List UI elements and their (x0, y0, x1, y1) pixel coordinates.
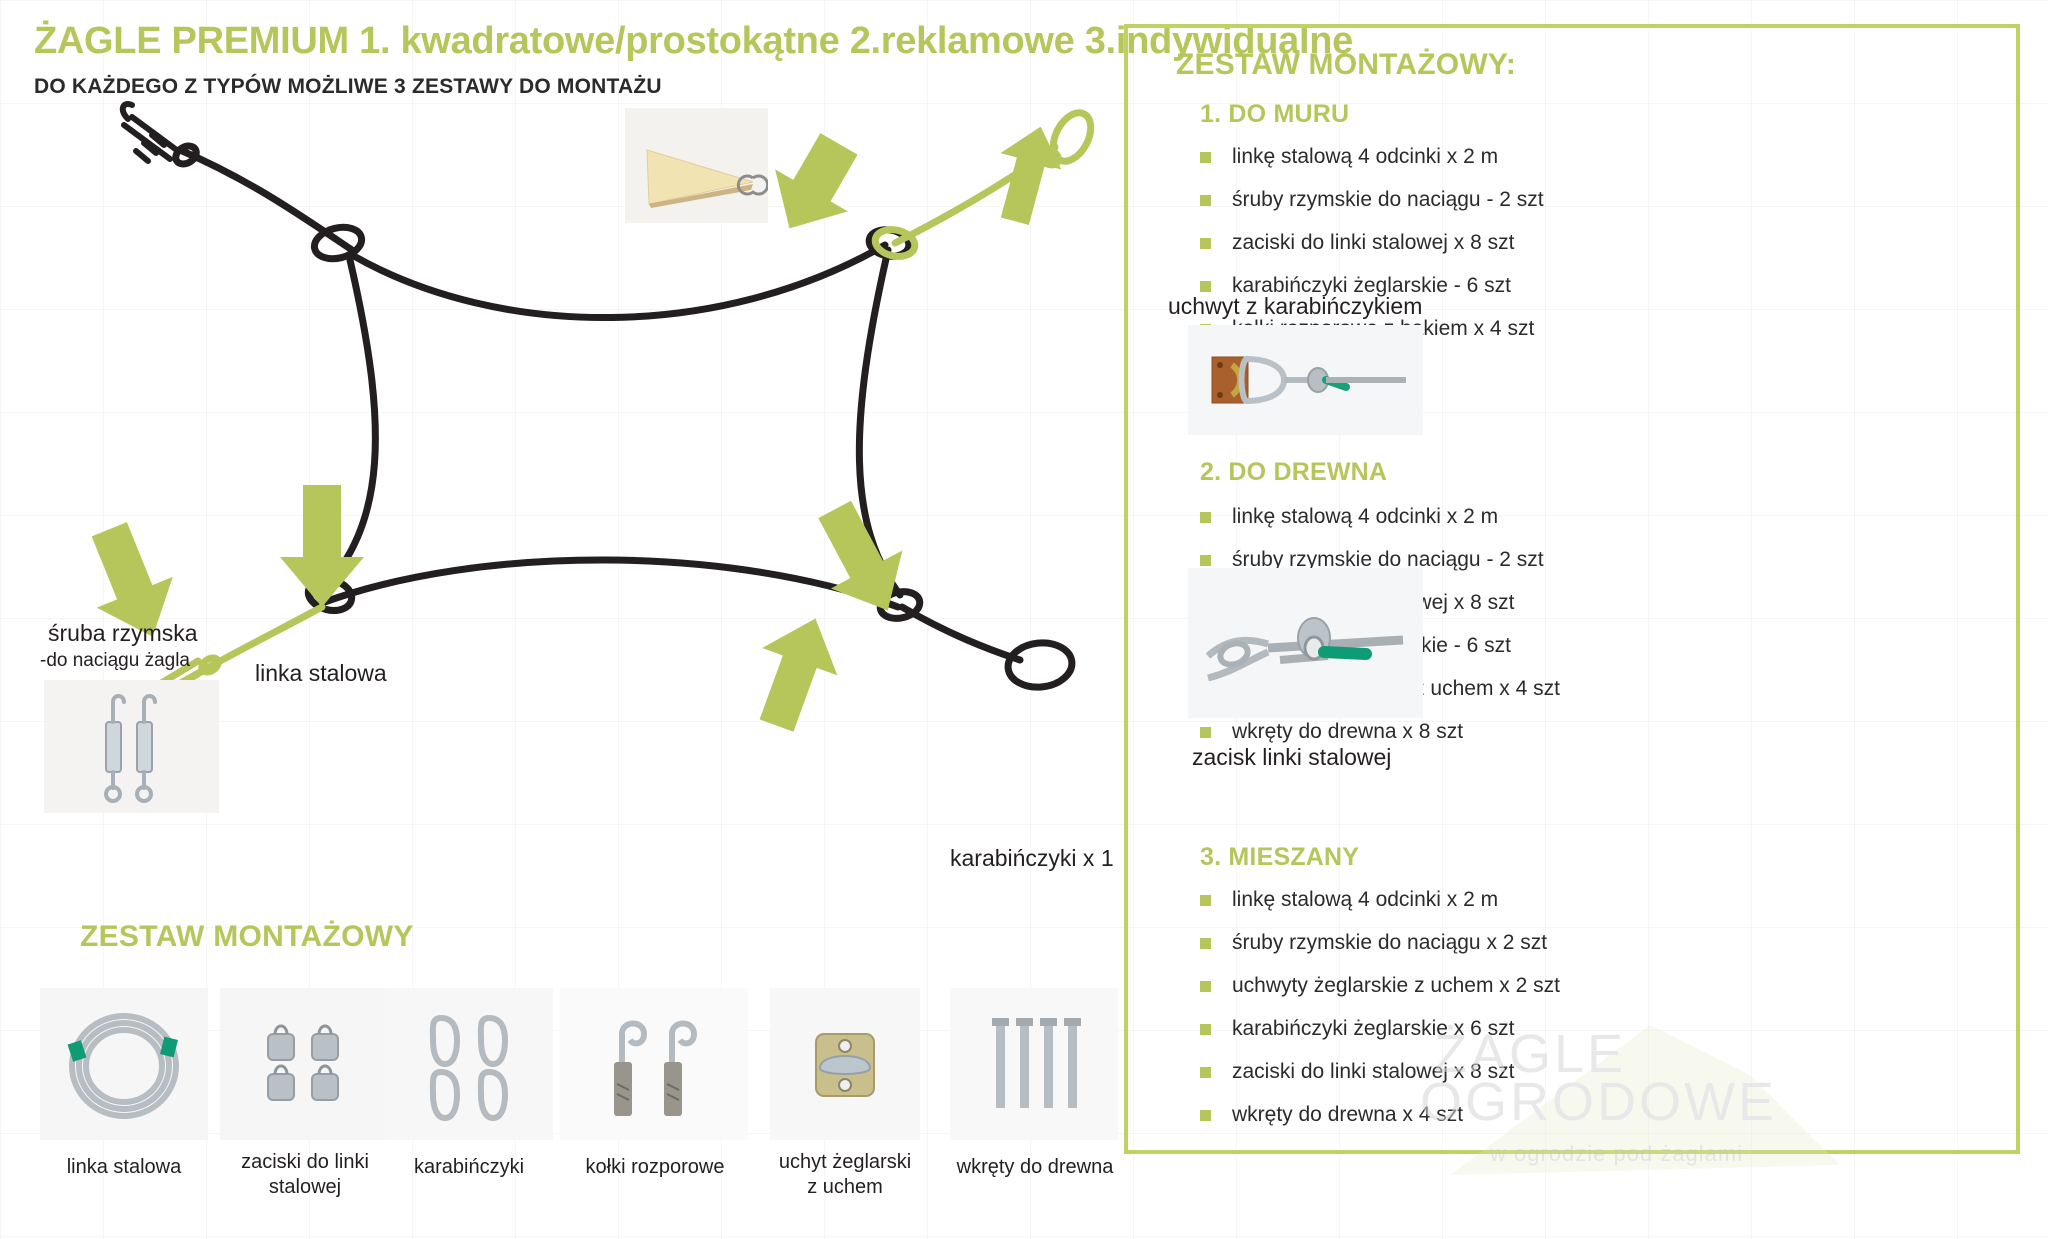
photo-product-linka-stalowa (40, 988, 208, 1140)
caption-wkrety: wkręty do drewna (930, 1155, 1140, 1180)
label-zestaw-montazowy: ZESTAW MONTAŻOWY (80, 920, 414, 954)
caption-uchwyt-text: uchyt żeglarski z uchem (779, 1151, 911, 1198)
caption-kolki: kołki rozporowe (550, 1155, 760, 1180)
kit-list-3: linkę stalową 4 odcinki x 2 m śruby rzym… (1200, 888, 1900, 1147)
caption-zaciski-text: zaciski do linki stalowej (241, 1151, 369, 1198)
list-item: uchwyty żeglarskie z uchem x 2 szt (1200, 974, 1900, 997)
list-item: wkręty do drewna x 8 szt (1200, 720, 1900, 743)
bullet-icon (1200, 895, 1211, 906)
bullet-icon (1200, 727, 1211, 738)
label-uchwyt-z-karabinczykiem: uchwyt z karabińczykiem (1168, 293, 1422, 319)
section-heading-3: 3. MIESZANY (1200, 843, 1359, 872)
photo-product-kolki (560, 988, 748, 1140)
photo-product-wkrety (950, 988, 1118, 1140)
list-item: śruby rzymskie do naciągu - 2 szt (1200, 188, 1900, 211)
panel-title: ZESTAW MONTAŻOWY: (1176, 48, 1516, 82)
photo-zacisk-linki (1188, 568, 1423, 718)
bullet-icon (1200, 938, 1211, 949)
label-sruba-rzymska: śruba rzymska (48, 620, 198, 646)
bullet-icon (1200, 1067, 1211, 1078)
photo-product-karabinczyki (385, 988, 553, 1140)
list-item: zaciski do linki stalowej x 8 szt (1200, 1060, 1900, 1083)
section-heading-1: 1. DO MURU (1200, 100, 1349, 129)
bullet-icon (1200, 1110, 1211, 1121)
photo-product-uchwyt (770, 988, 920, 1140)
bullet-icon (1200, 512, 1211, 523)
caption-zaciski: zaciski do linki stalowej (215, 1150, 395, 1200)
label-zacisk-linki-stalowej: zacisk linki stalowej (1192, 744, 1391, 770)
label-karabinczyki-x1: karabińczyki x 1 (950, 845, 1114, 871)
caption-karabinczyki: karabińczyki (385, 1155, 553, 1180)
label-sruba-rzymska-sub: -do naciągu żagla (40, 650, 190, 672)
bullet-icon (1200, 152, 1211, 163)
bullet-icon (1200, 555, 1211, 566)
bullet-icon (1200, 195, 1211, 206)
photo-product-zaciski (220, 988, 388, 1140)
photo-sruba-rzymska (44, 680, 219, 813)
photo-uchwyt-karabinczyk (1188, 325, 1423, 435)
list-item: linkę stalową 4 odcinki x 2 m (1200, 505, 1900, 528)
photo-sail-corner (625, 108, 768, 223)
label-linka-stalowa: linka stalowa (255, 660, 387, 686)
caption-linka-stalowa: linka stalowa (40, 1155, 208, 1180)
list-item: linkę stalową 4 odcinki x 2 m (1200, 888, 1900, 911)
bullet-icon (1200, 281, 1211, 292)
list-item: zaciski do linki stalowej x 8 szt (1200, 231, 1900, 254)
list-item: linkę stalową 4 odcinki x 2 m (1200, 145, 1900, 168)
list-item: śruby rzymskie do naciągu x 2 szt (1200, 931, 1900, 954)
caption-uchwyt: uchyt żeglarski z uchem (755, 1150, 935, 1200)
bullet-icon (1200, 238, 1211, 249)
section-heading-2: 2. DO DREWNA (1200, 458, 1387, 487)
page-title: ŻAGLE PREMIUM 1. kwadratowe/prostokątne … (34, 20, 1124, 63)
list-item: wkręty do drewna x 4 szt (1200, 1103, 1900, 1126)
list-item: karabińczyki żeglarskie x 6 szt (1200, 1017, 1900, 1040)
bullet-icon (1200, 981, 1211, 992)
bullet-icon (1200, 1024, 1211, 1035)
